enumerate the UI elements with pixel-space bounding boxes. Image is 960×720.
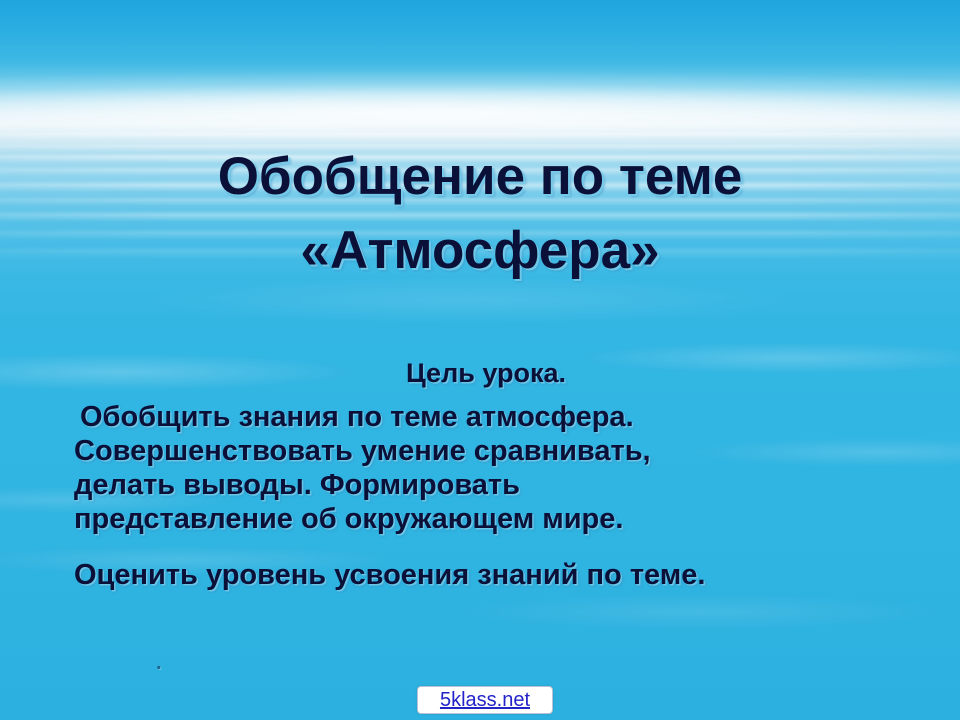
objectives-line-4: представление об окружающем мире.	[74, 502, 914, 536]
watermark-link-text[interactable]: 5klass.net	[440, 690, 530, 710]
objectives-paragraph: Обобщить знания по теме атмосфера. Совер…	[58, 400, 914, 536]
objectives-line-3: делать выводы. Формировать	[74, 468, 914, 502]
slide-title: Обобщение по теме «Атмосфера»	[60, 140, 900, 288]
objectives-line-1: Обобщить знания по теме атмосфера.	[74, 400, 914, 434]
assessment-paragraph: Оценить уровень усвоения знаний по теме.	[58, 558, 914, 592]
presentation-slide: Обобщение по теме «Атмосфера» Цель урока…	[0, 0, 960, 720]
objectives-line-2: Совершенствовать умение сравнивать,	[74, 434, 914, 468]
title-line-1: Обобщение по теме	[60, 140, 900, 214]
slide-content: Обобщение по теме «Атмосфера» Цель урока…	[0, 0, 960, 720]
slide-body: Цель урока. Обобщить знания по теме атмо…	[58, 356, 914, 592]
stray-period-mark: .	[156, 652, 162, 675]
watermark-badge[interactable]: 5klass.net	[417, 686, 553, 714]
title-line-2: «Атмосфера»	[60, 214, 900, 288]
goal-heading: Цель урока.	[58, 356, 914, 390]
